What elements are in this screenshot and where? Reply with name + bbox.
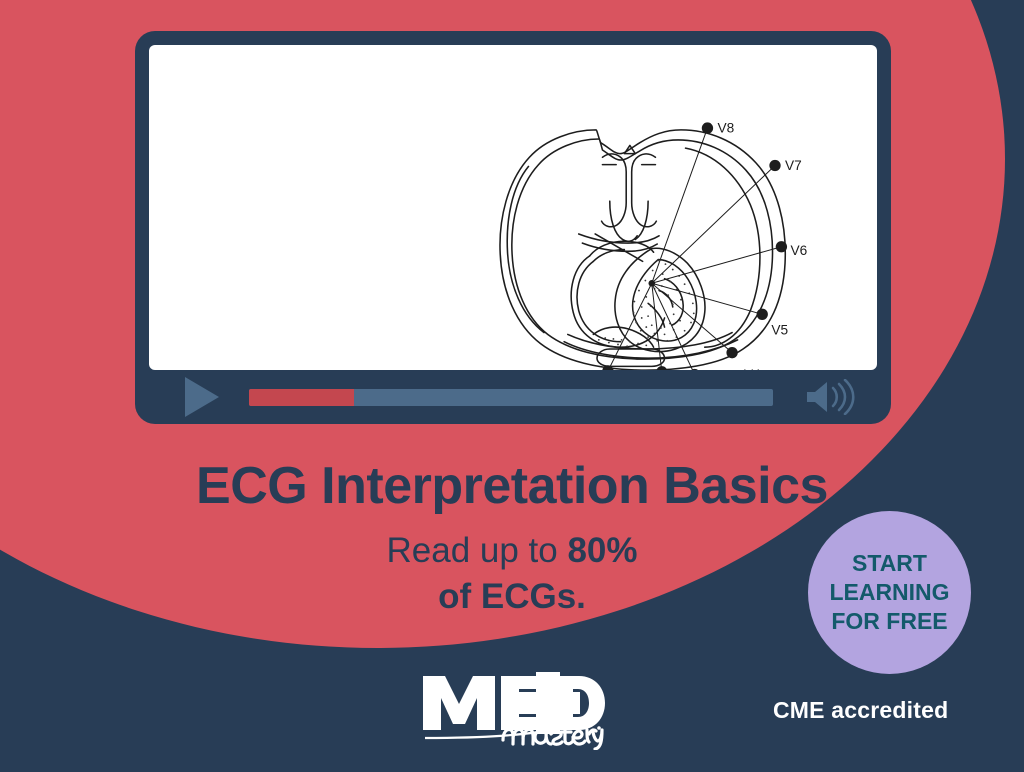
video-player[interactable]: V1V2V3V4V5V6V7V8	[135, 31, 891, 424]
heart-apex-node	[648, 280, 655, 287]
electrode-dot-v6	[776, 241, 787, 252]
electrode-lead-lines	[608, 128, 781, 370]
subtitle-prefix: Read up to	[386, 531, 567, 570]
player-controls[interactable]	[135, 370, 891, 424]
cme-accredited-label: CME accredited	[773, 697, 948, 724]
medmastery-logo[interactable]	[419, 668, 605, 750]
progress-fill	[249, 389, 354, 406]
cta-line-1: START	[852, 549, 927, 578]
electrode-label-v6: V6	[791, 243, 808, 258]
cta-line-2: LEARNING	[829, 578, 949, 607]
speaker-volume-icon[interactable]	[803, 379, 855, 415]
electrode-dot-v4	[726, 347, 737, 358]
promo-banner: V1V2V3V4V5V6V7V8 ECG Interpretation Basi…	[0, 0, 1024, 772]
electrode-dot-v5	[757, 309, 768, 320]
electrode-label-v8: V8	[717, 121, 734, 136]
video-screen[interactable]: V1V2V3V4V5V6V7V8	[149, 45, 877, 370]
progress-scrubber[interactable]	[249, 389, 773, 406]
thorax-ecg-electrode-diagram: V1V2V3V4V5V6V7V8	[149, 45, 877, 370]
start-learning-badge[interactable]: START LEARNING FOR FREE	[808, 511, 971, 674]
cta-line-3: FOR FREE	[831, 607, 947, 636]
play-triangle-icon[interactable]	[185, 377, 219, 417]
electrode-label-v5: V5	[771, 322, 788, 337]
electrode-label-v7: V7	[785, 158, 802, 173]
registered-dot	[597, 726, 601, 730]
electrode-markers: V1V2V3V4V5V6V7V8	[592, 121, 808, 370]
subtitle-percent: 80%	[567, 531, 637, 570]
electrode-dot-v8	[702, 122, 713, 133]
electrode-dot-v7	[769, 160, 780, 171]
medmastery-logo-mark	[419, 668, 605, 750]
page-title: ECG Interpretation Basics	[0, 456, 1024, 516]
